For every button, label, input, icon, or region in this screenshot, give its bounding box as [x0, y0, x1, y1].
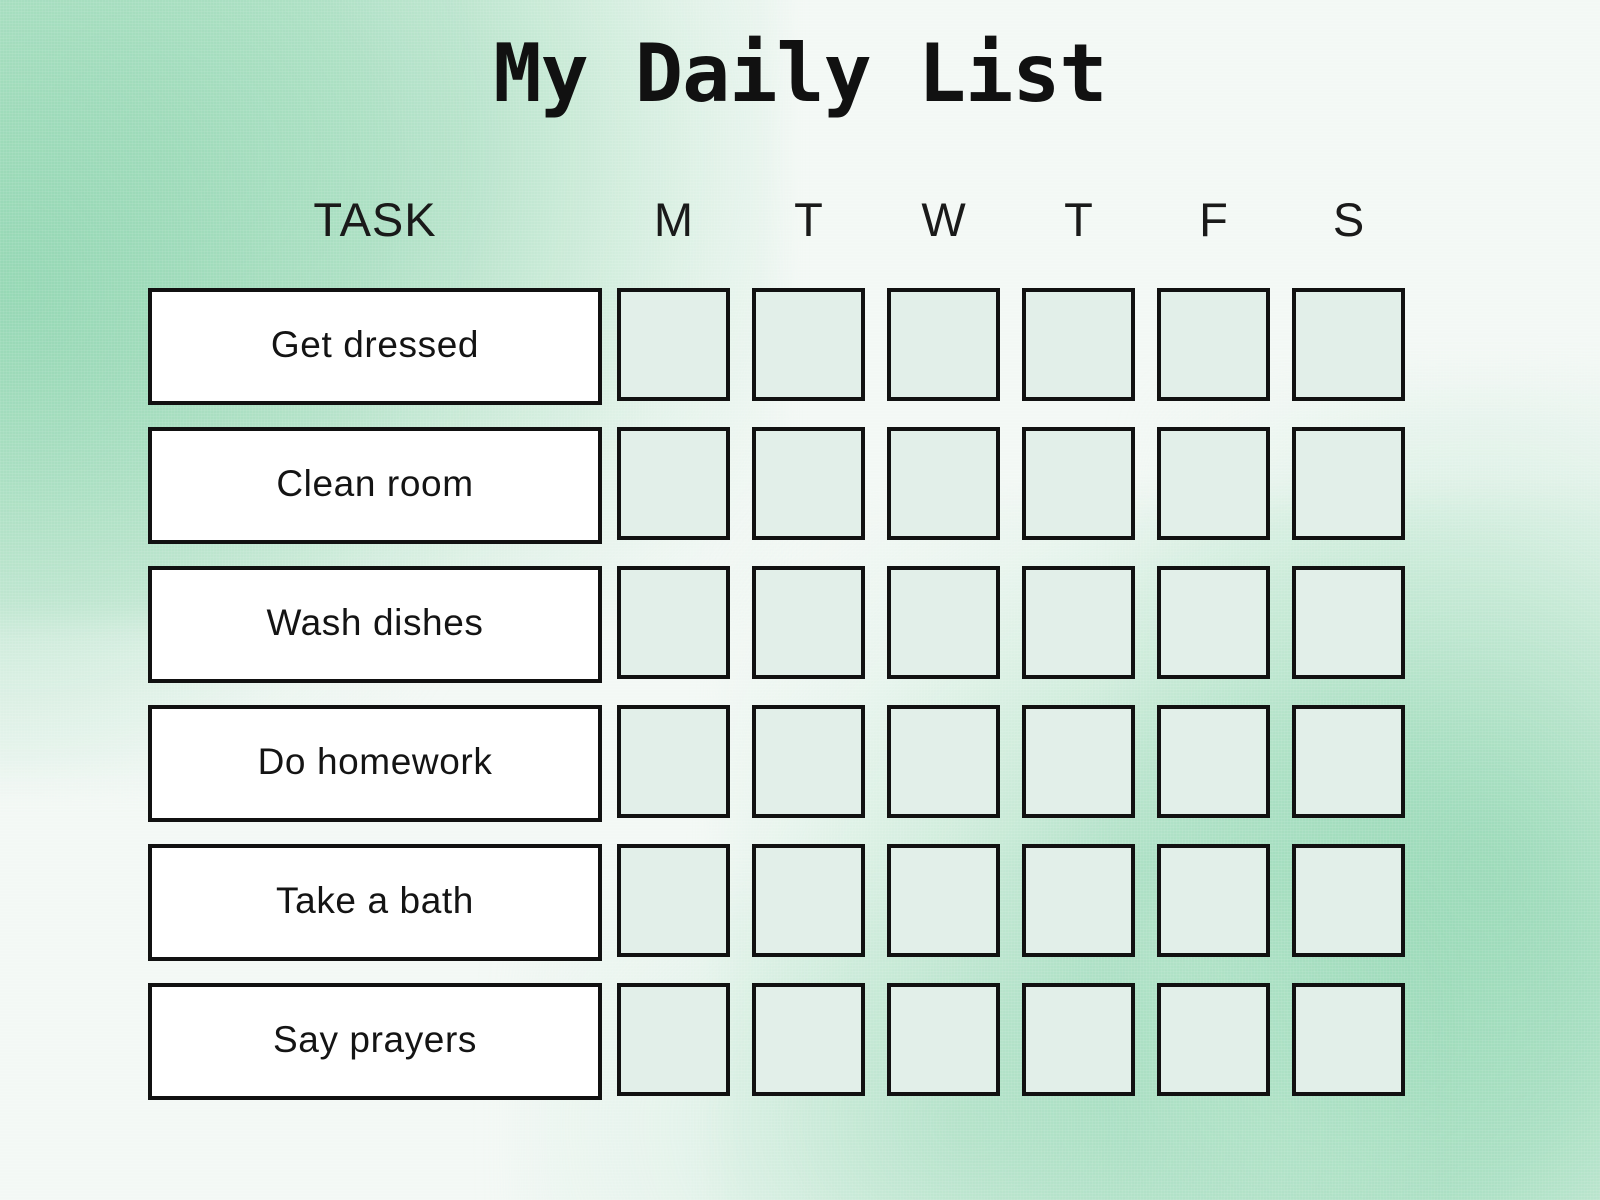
task-label: Clean room: [276, 463, 473, 505]
checkbox-cell-r4-c1[interactable]: [752, 844, 865, 957]
checkbox-cell-r0-c2[interactable]: [887, 288, 1000, 401]
checkbox-cell-r4-c5[interactable]: [1292, 844, 1405, 957]
task-name-box-0[interactable]: Get dressed: [148, 288, 602, 405]
table-row: Do homework: [148, 705, 1440, 822]
table-row: Say prayers: [148, 983, 1440, 1100]
checkbox-cell-r3-c0[interactable]: [617, 705, 730, 818]
checkbox-cell-r0-c3[interactable]: [1022, 288, 1135, 401]
daily-list-page: My Daily List TASK MTWTFS Get dressedCle…: [0, 0, 1600, 1200]
checkbox-cell-r5-c2[interactable]: [887, 983, 1000, 1096]
day-column-header-2: W: [887, 192, 1000, 248]
checkbox-cell-r4-c2[interactable]: [887, 844, 1000, 957]
day-column-header-1: T: [752, 192, 865, 248]
checkbox-cell-r3-c2[interactable]: [887, 705, 1000, 818]
checkbox-cell-r2-c2[interactable]: [887, 566, 1000, 679]
task-label: Say prayers: [273, 1019, 477, 1061]
checkbox-cell-r2-c1[interactable]: [752, 566, 865, 679]
table-row: Wash dishes: [148, 566, 1440, 683]
task-name-box-5[interactable]: Say prayers: [148, 983, 602, 1100]
checkbox-cell-r1-c0[interactable]: [617, 427, 730, 540]
checkbox-cell-r0-c5[interactable]: [1292, 288, 1405, 401]
table-row: Take a bath: [148, 844, 1440, 961]
day-column-header-4: F: [1157, 192, 1270, 248]
checkbox-cell-r4-c3[interactable]: [1022, 844, 1135, 957]
checkbox-cell-r5-c3[interactable]: [1022, 983, 1135, 1096]
task-label: Get dressed: [271, 324, 479, 366]
checkbox-cell-r0-c4[interactable]: [1157, 288, 1270, 401]
day-column-header-0: M: [617, 192, 730, 248]
task-name-box-1[interactable]: Clean room: [148, 427, 602, 544]
checkbox-cell-r1-c1[interactable]: [752, 427, 865, 540]
checkbox-cell-r3-c4[interactable]: [1157, 705, 1270, 818]
checkbox-cell-r5-c5[interactable]: [1292, 983, 1405, 1096]
checkbox-cell-r2-c5[interactable]: [1292, 566, 1405, 679]
checkbox-cell-r3-c1[interactable]: [752, 705, 865, 818]
task-column-header: TASK: [148, 192, 602, 248]
checkbox-cell-r0-c1[interactable]: [752, 288, 865, 401]
checkbox-cell-r1-c2[interactable]: [887, 427, 1000, 540]
day-column-header-3: T: [1022, 192, 1135, 248]
task-label: Do homework: [258, 741, 493, 783]
checkbox-cell-r3-c5[interactable]: [1292, 705, 1405, 818]
checkbox-cell-r4-c4[interactable]: [1157, 844, 1270, 957]
checkbox-cell-r0-c0[interactable]: [617, 288, 730, 401]
checkbox-cell-r2-c4[interactable]: [1157, 566, 1270, 679]
day-column-header-5: S: [1292, 192, 1405, 248]
task-name-box-2[interactable]: Wash dishes: [148, 566, 602, 683]
task-name-box-4[interactable]: Take a bath: [148, 844, 602, 961]
table-row: Clean room: [148, 427, 1440, 544]
checkbox-cell-r5-c1[interactable]: [752, 983, 865, 1096]
checkbox-cell-r4-c0[interactable]: [617, 844, 730, 957]
task-label: Wash dishes: [266, 602, 483, 644]
checkbox-cell-r2-c3[interactable]: [1022, 566, 1135, 679]
checkbox-cell-r1-c4[interactable]: [1157, 427, 1270, 540]
checkbox-cell-r1-c5[interactable]: [1292, 427, 1405, 540]
column-header-row: TASK MTWTFS: [148, 192, 1438, 254]
checklist-grid: Get dressedClean roomWash dishesDo homew…: [148, 288, 1440, 1118]
checkbox-cell-r2-c0[interactable]: [617, 566, 730, 679]
checkbox-cell-r5-c0[interactable]: [617, 983, 730, 1096]
task-name-box-3[interactable]: Do homework: [148, 705, 602, 822]
task-label: Take a bath: [276, 880, 474, 922]
checkbox-cell-r3-c3[interactable]: [1022, 705, 1135, 818]
checkbox-cell-r1-c3[interactable]: [1022, 427, 1135, 540]
checkbox-cell-r5-c4[interactable]: [1157, 983, 1270, 1096]
page-title: My Daily List: [0, 34, 1600, 114]
table-row: Get dressed: [148, 288, 1440, 405]
